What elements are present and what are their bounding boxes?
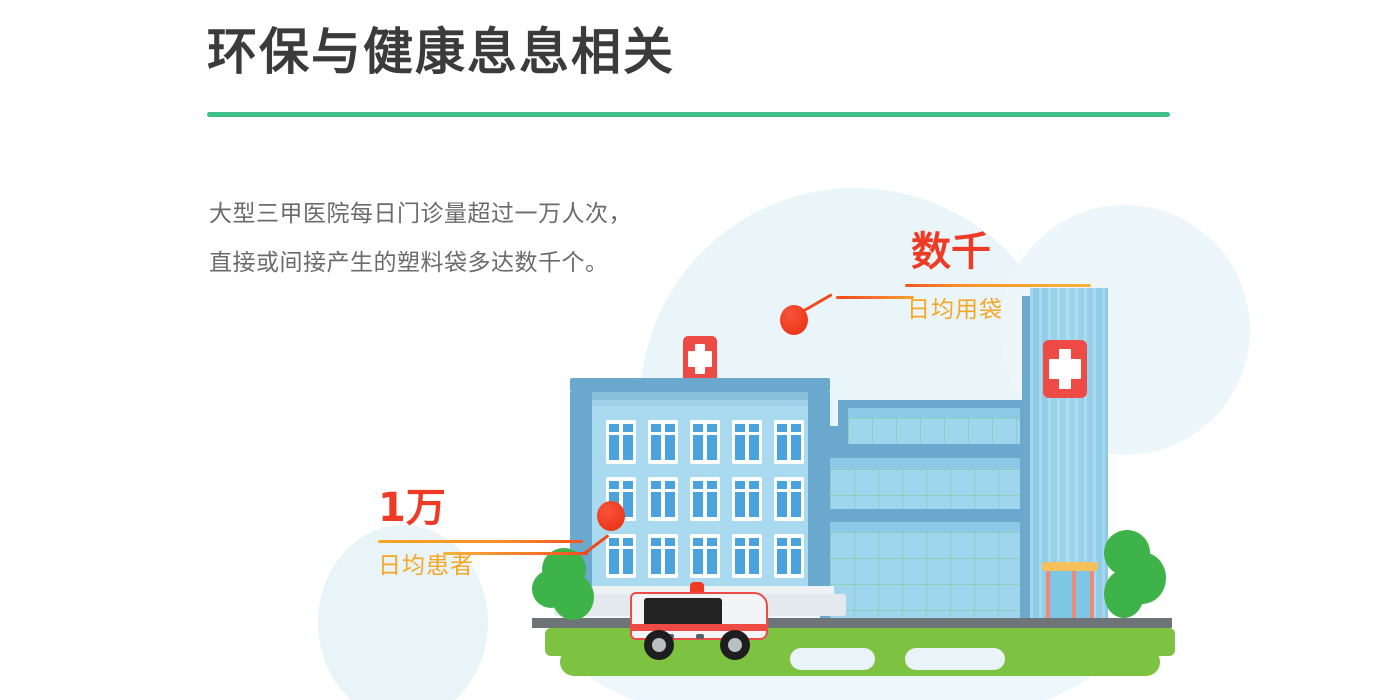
callout-daily-bags: 数千 日均用袋 xyxy=(905,232,1091,322)
building-window xyxy=(606,534,636,578)
bush-lobe xyxy=(1104,570,1144,618)
page-title: 环保与健康息息相关 xyxy=(207,24,675,82)
ambulance-stripe xyxy=(632,624,767,631)
glass-band xyxy=(830,522,1020,532)
entrance-awning xyxy=(1042,562,1098,571)
building-window xyxy=(774,420,804,464)
callout-top-marker-dot xyxy=(780,305,808,335)
road-marking xyxy=(905,648,1005,670)
slide-canvas: 环保与健康息息相关 大型三甲医院每日门诊量超过一万人次，直接或间接产生的塑料袋多… xyxy=(0,0,1400,700)
building-window xyxy=(648,420,678,464)
callout-label: 日均患者 xyxy=(378,555,583,578)
building-window xyxy=(606,420,636,464)
bush-lobe xyxy=(552,574,594,620)
callout-divider xyxy=(378,540,583,543)
callout-divider xyxy=(905,284,1091,287)
building-window xyxy=(774,477,804,521)
building-window xyxy=(648,534,678,578)
building-pilaster-right xyxy=(808,392,830,596)
callout-daily-patients: 1万 日均患者 xyxy=(378,488,583,578)
building-window xyxy=(690,420,720,464)
building-window xyxy=(690,534,720,578)
building-window xyxy=(774,534,804,578)
glass-panel xyxy=(848,418,1020,444)
ambulance-handle xyxy=(696,634,704,639)
glass-grid xyxy=(848,418,1020,444)
road-marking xyxy=(790,648,875,670)
tower-entrance xyxy=(1042,562,1098,618)
body-paragraph: 大型三甲医院每日门诊量超过一万人次，直接或间接产生的塑料袋多达数千个。 xyxy=(209,190,639,289)
building-window xyxy=(648,477,678,521)
red-cross-sign-tower xyxy=(1043,340,1087,398)
glass-grid xyxy=(830,532,1020,618)
glass-grid xyxy=(830,469,1020,509)
entrance-door xyxy=(1046,571,1094,618)
building-window xyxy=(690,477,720,521)
building-cornice xyxy=(570,378,830,392)
callout-label: 日均用袋 xyxy=(905,299,1091,322)
callout-top-leader-line xyxy=(836,296,914,299)
ambulance-wheel xyxy=(720,630,750,660)
glass-building xyxy=(838,400,1030,618)
callout-value: 1万 xyxy=(378,488,583,528)
building-window xyxy=(732,534,762,578)
glass-panel xyxy=(830,469,1020,509)
title-underline xyxy=(207,112,1170,117)
building-window xyxy=(732,477,762,521)
glass-panel xyxy=(830,532,1020,618)
bush-right xyxy=(1104,530,1166,620)
glass-band xyxy=(848,408,1020,418)
red-cross-sign-main xyxy=(683,336,717,382)
ambulance-wheel xyxy=(644,630,674,660)
callout-bottom-marker-dot xyxy=(597,501,625,531)
ambulance xyxy=(622,578,772,660)
building-window xyxy=(732,420,762,464)
glass-band xyxy=(830,458,1020,469)
callout-value: 数千 xyxy=(905,232,1091,272)
